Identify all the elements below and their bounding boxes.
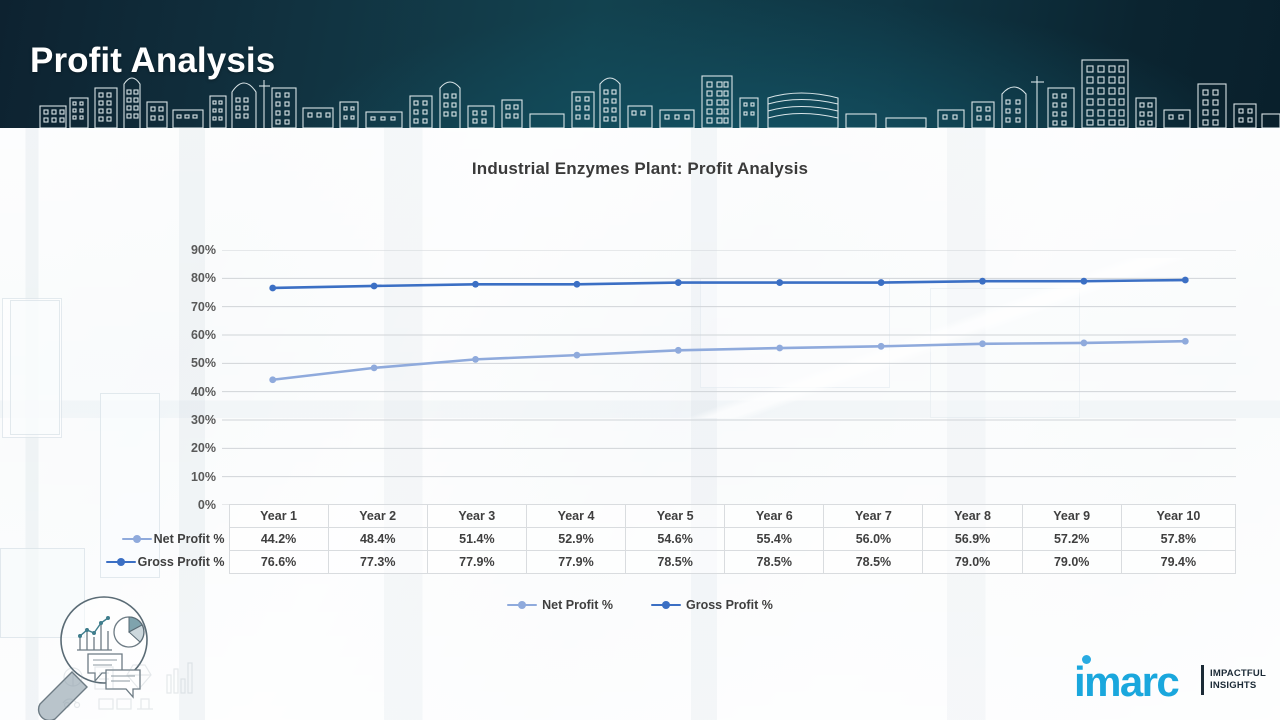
data-point	[878, 279, 885, 286]
series-name: Net Profit %	[154, 532, 225, 546]
table-cell: 78.5%	[824, 551, 923, 574]
table-column-header: Year 6	[725, 505, 824, 528]
table-cell: 56.9%	[923, 528, 1022, 551]
table-corner-cell	[97, 505, 229, 528]
series-line-0	[273, 341, 1186, 380]
data-point	[979, 340, 986, 347]
series-key-icon	[106, 557, 136, 568]
chart-plot-area	[222, 250, 1236, 505]
table-column-header: Year 7	[824, 505, 923, 528]
data-point	[574, 281, 581, 288]
bg-shape	[10, 300, 60, 435]
table-cell: 79.0%	[923, 551, 1022, 574]
logo-divider	[1201, 665, 1204, 695]
data-point	[472, 281, 479, 288]
table-cell: 76.6%	[229, 551, 328, 574]
y-axis-tick-label: 90%	[170, 244, 216, 256]
data-point	[371, 283, 378, 290]
legend-label: Net Profit %	[542, 598, 613, 612]
logo-tagline-line2: INSIGHTS	[1210, 680, 1266, 692]
data-point	[472, 356, 479, 363]
y-axis-tick-label: 60%	[170, 329, 216, 341]
y-axis-tick-label: 30%	[170, 414, 216, 426]
series-line-1	[273, 280, 1186, 288]
logo-tagline-line1: IMPACTFUL	[1210, 668, 1266, 680]
data-point	[776, 345, 783, 352]
data-point	[878, 343, 885, 350]
table-cell: 77.9%	[427, 551, 526, 574]
table-column-header: Year 2	[328, 505, 427, 528]
table-cell: 78.5%	[725, 551, 824, 574]
table-cell: 77.3%	[328, 551, 427, 574]
table-row-header: Gross Profit %	[97, 551, 229, 574]
y-axis-tick-label: 20%	[170, 442, 216, 454]
chart-legend: Net Profit %Gross Profit %	[0, 598, 1280, 612]
y-axis-tick-label: 50%	[170, 357, 216, 369]
data-point	[1081, 340, 1088, 347]
data-point	[675, 279, 682, 286]
table-cell: 52.9%	[526, 528, 625, 551]
table-cell: 57.8%	[1121, 528, 1235, 551]
table-column-header: Year 10	[1121, 505, 1235, 528]
data-point	[1182, 277, 1189, 284]
table-cell: 44.2%	[229, 528, 328, 551]
y-axis-tick-label: 70%	[170, 301, 216, 313]
table-cell: 77.9%	[526, 551, 625, 574]
table-cell: 79.0%	[1022, 551, 1121, 574]
data-point	[269, 376, 276, 383]
city-skyline-icon	[0, 58, 1280, 128]
table-header-row: Year 1Year 2Year 3Year 4Year 5Year 6Year…	[97, 505, 1236, 528]
y-axis-tick-label: 80%	[170, 272, 216, 284]
table-row-header: Net Profit %	[97, 528, 229, 551]
data-point	[574, 352, 581, 359]
y-axis-tick-label: 10%	[170, 471, 216, 483]
legend-key-icon	[507, 600, 537, 611]
table-cell: 57.2%	[1022, 528, 1121, 551]
table-column-header: Year 3	[427, 505, 526, 528]
series-key-icon	[122, 534, 152, 545]
table-column-header: Year 8	[923, 505, 1022, 528]
data-point	[979, 278, 986, 285]
data-point	[1182, 338, 1189, 345]
table-column-header: Year 4	[526, 505, 625, 528]
legend-label: Gross Profit %	[686, 598, 773, 612]
logo-wordmark: imarc	[1074, 660, 1178, 704]
legend-key-icon	[651, 600, 681, 611]
imarc-logo: imarc IMPACTFUL INSIGHTS	[1070, 655, 1260, 707]
watermark-icons	[55, 655, 205, 715]
chart-title: Industrial Enzymes Plant: Profit Analysi…	[0, 159, 1280, 179]
y-axis-labels: 90%80%70%60%50%40%30%20%10%0%	[170, 243, 216, 511]
table-column-header: Year 5	[626, 505, 725, 528]
table-row: Net Profit %44.2%48.4%51.4%52.9%54.6%55.…	[97, 528, 1236, 551]
table-cell: 55.4%	[725, 528, 824, 551]
slide-header: Profit Analysis	[0, 0, 1280, 128]
data-point	[776, 279, 783, 286]
table-cell: 56.0%	[824, 528, 923, 551]
table-column-header: Year 9	[1022, 505, 1121, 528]
legend-item[interactable]: Net Profit %	[507, 598, 613, 612]
y-axis-tick-label: 40%	[170, 386, 216, 398]
table-cell: 54.6%	[626, 528, 725, 551]
logo-tagline: IMPACTFUL INSIGHTS	[1210, 668, 1266, 691]
chart-data-table: Year 1Year 2Year 3Year 4Year 5Year 6Year…	[97, 504, 1236, 574]
line-chart-svg	[222, 250, 1236, 505]
data-point	[269, 285, 276, 292]
table-cell: 78.5%	[626, 551, 725, 574]
table-row: Gross Profit %76.6%77.3%77.9%77.9%78.5%7…	[97, 551, 1236, 574]
slide-root: Profit Analysis	[0, 0, 1280, 720]
series-name: Gross Profit %	[138, 555, 225, 569]
data-point	[675, 347, 682, 354]
data-point	[371, 364, 378, 371]
legend-item[interactable]: Gross Profit %	[651, 598, 773, 612]
table-cell: 79.4%	[1121, 551, 1235, 574]
data-point	[1081, 278, 1088, 285]
table-cell: 48.4%	[328, 528, 427, 551]
table-column-header: Year 1	[229, 505, 328, 528]
table-cell: 51.4%	[427, 528, 526, 551]
